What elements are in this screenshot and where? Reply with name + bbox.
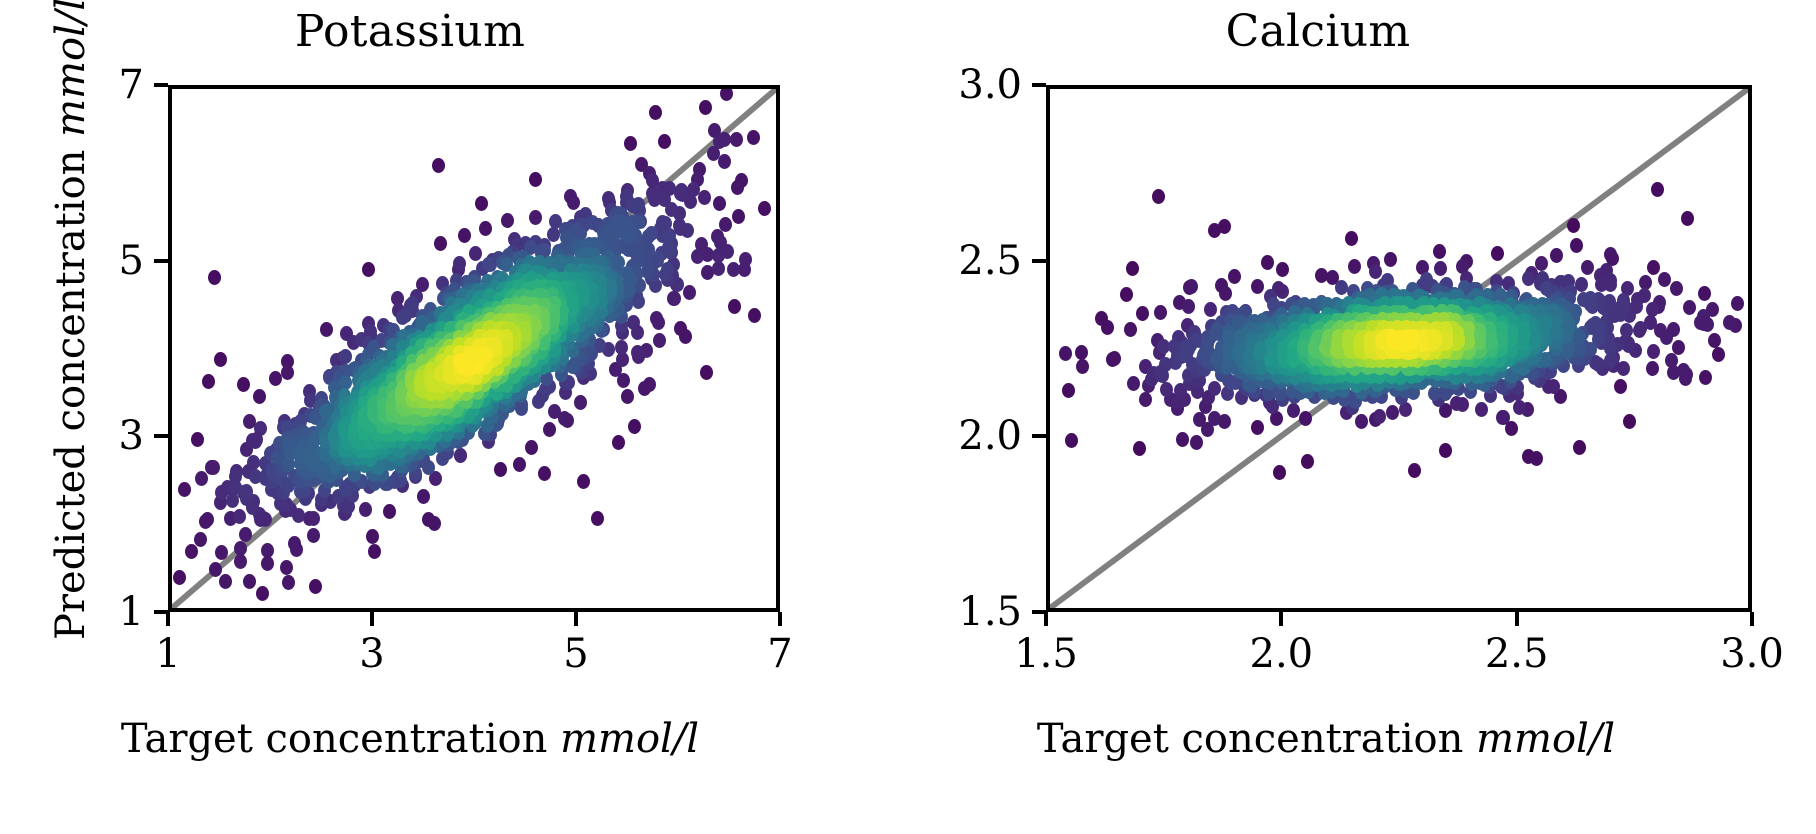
scatter-point bbox=[632, 294, 645, 309]
scatter-point bbox=[1456, 397, 1469, 412]
scatter-point bbox=[747, 130, 760, 145]
y-tick-7 bbox=[154, 83, 168, 87]
scatter-point bbox=[538, 466, 551, 481]
scatter-point bbox=[494, 462, 507, 477]
scatter-point bbox=[718, 154, 731, 169]
scatter-point bbox=[1670, 281, 1683, 296]
scatter-point bbox=[748, 308, 761, 323]
scatter-point bbox=[1614, 379, 1627, 394]
x-tick-1 bbox=[166, 612, 170, 626]
scatter-point bbox=[253, 389, 266, 404]
scatter-point bbox=[621, 389, 634, 404]
scatter-point bbox=[1646, 361, 1659, 376]
figure-canvas: Potassium 13571357 Target concentration … bbox=[0, 0, 1816, 834]
scatter-point bbox=[269, 371, 282, 386]
scatter-point bbox=[1261, 255, 1274, 270]
scatter-point bbox=[687, 182, 700, 197]
panel-potassium: Potassium 13571357 Target concentration … bbox=[0, 0, 820, 834]
scatter-point bbox=[1369, 264, 1382, 279]
scatter-point bbox=[735, 173, 748, 188]
scatter-point bbox=[658, 134, 671, 149]
scatter-point bbox=[1522, 271, 1535, 286]
scatter-point bbox=[683, 285, 696, 300]
scatter-point bbox=[249, 434, 262, 449]
axis-title-x-potassium: Target concentration mmol/l bbox=[0, 716, 820, 762]
scatter-point bbox=[615, 340, 628, 355]
scatter-point bbox=[1731, 296, 1744, 311]
scatter-point bbox=[246, 500, 259, 515]
scatter-point bbox=[699, 100, 712, 115]
scatter-point bbox=[307, 511, 320, 526]
scatter-point bbox=[237, 377, 250, 392]
scatter-point bbox=[454, 448, 467, 463]
x-ticklabel-3: 3 bbox=[359, 634, 384, 674]
scatter-point bbox=[1345, 231, 1358, 246]
scatter-point bbox=[1658, 272, 1671, 287]
plot-area-calcium bbox=[1046, 85, 1752, 612]
scatter-point bbox=[628, 419, 641, 434]
scatter-point bbox=[1136, 306, 1149, 321]
scatter-point bbox=[617, 373, 630, 388]
scatter-point bbox=[290, 542, 303, 557]
scatter-point bbox=[649, 105, 662, 120]
scatter-point bbox=[479, 221, 492, 236]
x-tick-7 bbox=[778, 612, 782, 626]
scatter-point bbox=[691, 249, 704, 264]
scatter-point bbox=[256, 586, 269, 601]
scatter-point bbox=[307, 528, 320, 543]
scatter-point bbox=[362, 262, 375, 277]
scatter-point bbox=[1434, 261, 1447, 276]
scatter-point bbox=[1059, 346, 1072, 361]
scatter-point bbox=[240, 484, 253, 499]
scatter-point bbox=[631, 345, 644, 360]
scatter-point bbox=[577, 474, 590, 489]
axis-title-x-text-potassium: Target concentration bbox=[121, 716, 547, 762]
scatter-point bbox=[422, 460, 435, 475]
scatter-point bbox=[574, 395, 587, 410]
scatter-point bbox=[719, 217, 732, 232]
scatter-point bbox=[1287, 403, 1300, 418]
scatter-point bbox=[543, 422, 556, 437]
scatter-point bbox=[428, 516, 441, 531]
axis-title-y-text-potassium: Predicted concentration bbox=[48, 150, 94, 640]
scatter-point bbox=[399, 308, 412, 323]
scatter-point bbox=[1439, 443, 1452, 458]
scatter-point bbox=[607, 234, 620, 249]
scatter-point bbox=[1299, 411, 1312, 426]
scatter-point bbox=[1335, 280, 1348, 295]
scatter-point bbox=[383, 504, 396, 519]
scatter-point bbox=[243, 574, 256, 589]
scatter-point bbox=[201, 512, 214, 527]
scatter-point bbox=[1228, 269, 1241, 284]
scatter-point bbox=[1384, 252, 1397, 267]
scatter-point bbox=[525, 440, 538, 455]
scatter-point bbox=[727, 262, 740, 277]
scatter-point bbox=[567, 195, 580, 210]
scatter-point bbox=[215, 545, 228, 560]
scatter-point bbox=[1573, 440, 1586, 455]
scatter-point bbox=[309, 579, 322, 594]
scatter-point bbox=[591, 511, 604, 526]
scatter-point bbox=[481, 418, 494, 433]
panel-title-potassium: Potassium bbox=[0, 6, 820, 57]
y-tick-3 bbox=[154, 434, 168, 438]
axis-title-x-unit-potassium: mmol/l bbox=[560, 716, 699, 762]
x-ticklabel-7: 7 bbox=[767, 634, 792, 674]
scatter-point bbox=[239, 527, 252, 542]
scatter-point bbox=[261, 543, 274, 558]
scatter-point bbox=[234, 541, 247, 556]
scatter-point bbox=[469, 246, 482, 261]
scatter-point bbox=[642, 242, 655, 257]
scatter-point bbox=[1646, 302, 1659, 317]
scatter-point bbox=[739, 252, 752, 267]
scatter-point bbox=[1126, 261, 1139, 276]
y-tick-5 bbox=[154, 259, 168, 263]
scatter-point bbox=[631, 325, 644, 340]
panel-title-calcium: Calcium bbox=[820, 6, 1816, 57]
plot-area-potassium bbox=[168, 85, 780, 612]
axis-title-y-unit-potassium: mmol/l bbox=[48, 0, 94, 137]
scatter-point bbox=[226, 493, 239, 508]
plot-clip-calcium bbox=[1050, 89, 1748, 608]
scatter-point bbox=[320, 322, 333, 337]
x-ticklabel-1: 1 bbox=[155, 634, 180, 674]
scatter-point bbox=[1698, 286, 1711, 301]
scatter-point bbox=[1681, 211, 1694, 226]
scatter-point bbox=[1647, 260, 1660, 275]
scatter-point bbox=[233, 509, 246, 524]
scatter-point bbox=[653, 333, 666, 348]
scatter-point bbox=[1127, 376, 1140, 391]
scatter-point bbox=[453, 256, 466, 271]
scatter-point bbox=[631, 242, 644, 257]
scatter-point bbox=[282, 575, 295, 590]
scatter-point bbox=[674, 186, 687, 201]
scatter-point bbox=[234, 554, 247, 569]
scatter-point bbox=[417, 489, 430, 504]
axis-title-y-potassium: Predicted concentration mmol/l bbox=[48, 0, 94, 640]
scatter-point bbox=[728, 299, 741, 314]
scatter-point bbox=[720, 89, 733, 101]
x-tick-5 bbox=[574, 612, 578, 626]
scatter-point bbox=[1699, 370, 1712, 385]
x-tick-3 bbox=[370, 612, 374, 626]
scatter-point bbox=[712, 248, 725, 263]
scatter-point bbox=[513, 457, 526, 472]
panel-calcium: Calcium 1.52.02.53.01.52.02.53.0 Target … bbox=[820, 0, 1816, 834]
y-tick-1 bbox=[154, 610, 168, 614]
x-ticklabel-5: 5 bbox=[563, 634, 588, 674]
scatter-point bbox=[1301, 454, 1314, 469]
scatter-point bbox=[359, 502, 372, 517]
scatter-point bbox=[529, 172, 542, 187]
plot-clip-potassium bbox=[172, 89, 776, 608]
scatter-point bbox=[700, 365, 713, 380]
scatter-point bbox=[214, 352, 227, 367]
